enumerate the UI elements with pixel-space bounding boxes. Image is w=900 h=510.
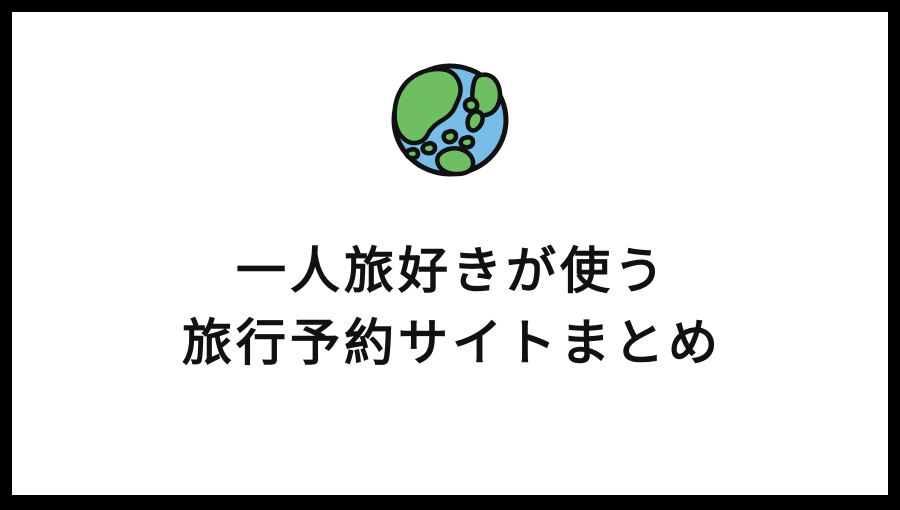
headline-line-1: 一人旅好きが使う bbox=[12, 240, 888, 302]
globe-showing-asia-australia-icon bbox=[386, 60, 514, 180]
thumbnail-card: 一人旅好きが使う 旅行予約サイトまとめ bbox=[0, 0, 900, 510]
headline-line-2: 旅行予約サイトまとめ bbox=[12, 312, 888, 374]
card-canvas: 一人旅好きが使う 旅行予約サイトまとめ bbox=[12, 12, 888, 495]
headline-block: 一人旅好きが使う 旅行予約サイトまとめ bbox=[12, 240, 888, 374]
